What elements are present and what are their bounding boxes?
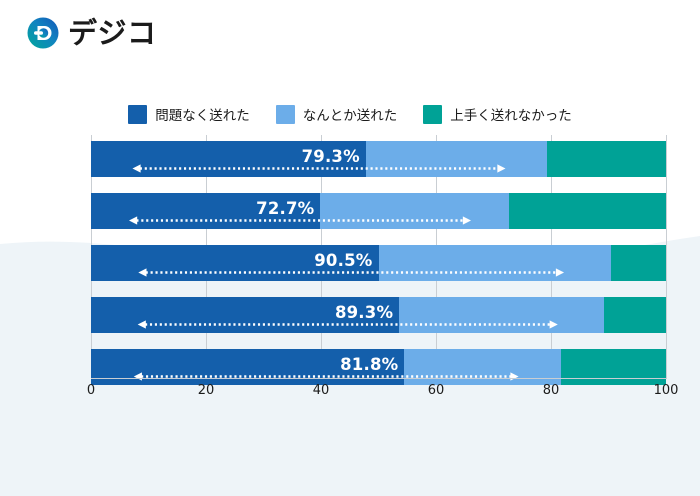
legend-item-label: なんとか送れた bbox=[303, 104, 398, 124]
legend-item[interactable]: 問題なく送れた bbox=[128, 104, 250, 124]
bar-segment[interactable] bbox=[547, 141, 666, 177]
bar-segment[interactable] bbox=[604, 297, 666, 333]
legend-item-label: 上手く送れなかった bbox=[450, 104, 572, 124]
x-tick-label: 0 bbox=[87, 383, 95, 398]
legend-item-label: 問題なく送れた bbox=[155, 104, 250, 124]
gridline bbox=[666, 135, 667, 378]
stacked-bar-chart: 20代以下79.3%30代72.7%40代90.5%50代89.3%60代以上8… bbox=[0, 135, 700, 405]
legend-item[interactable]: 上手く送れなかった bbox=[423, 104, 572, 124]
measure-arrow bbox=[91, 320, 604, 329]
plot-area: 20代以下79.3%30代72.7%40代90.5%50代89.3%60代以上8… bbox=[91, 135, 666, 378]
x-tick-label: 80 bbox=[543, 383, 560, 398]
digico-circle-logo-icon bbox=[27, 17, 59, 49]
x-tick-label: 100 bbox=[654, 383, 679, 398]
measure-arrow bbox=[91, 216, 509, 225]
legend-swatch-icon bbox=[276, 105, 295, 124]
measure-arrow bbox=[91, 268, 611, 277]
x-tick-label: 20 bbox=[198, 383, 215, 398]
x-tick-label: 40 bbox=[313, 383, 330, 398]
x-tick-label: 60 bbox=[428, 383, 445, 398]
measure-arrow bbox=[91, 372, 561, 381]
chart-page: デジコ 問題なく送れた なんとか送れた 上手く送れなかった 20代以下79.3%… bbox=[0, 0, 700, 496]
measure-arrow bbox=[91, 164, 547, 173]
brand-name: デジコ bbox=[68, 19, 157, 48]
legend-item[interactable]: なんとか送れた bbox=[276, 104, 398, 124]
x-axis-line bbox=[91, 378, 667, 379]
legend-swatch-icon bbox=[128, 105, 147, 124]
chart-legend: 問題なく送れた なんとか送れた 上手く送れなかった bbox=[0, 104, 700, 124]
legend-swatch-icon bbox=[423, 105, 442, 124]
bar-segment[interactable] bbox=[509, 193, 666, 229]
bar-segment[interactable] bbox=[611, 245, 666, 281]
brand-logo: デジコ bbox=[27, 17, 157, 49]
bar-segment[interactable] bbox=[561, 349, 666, 385]
x-axis-ticks: 020406080100 bbox=[0, 383, 700, 403]
